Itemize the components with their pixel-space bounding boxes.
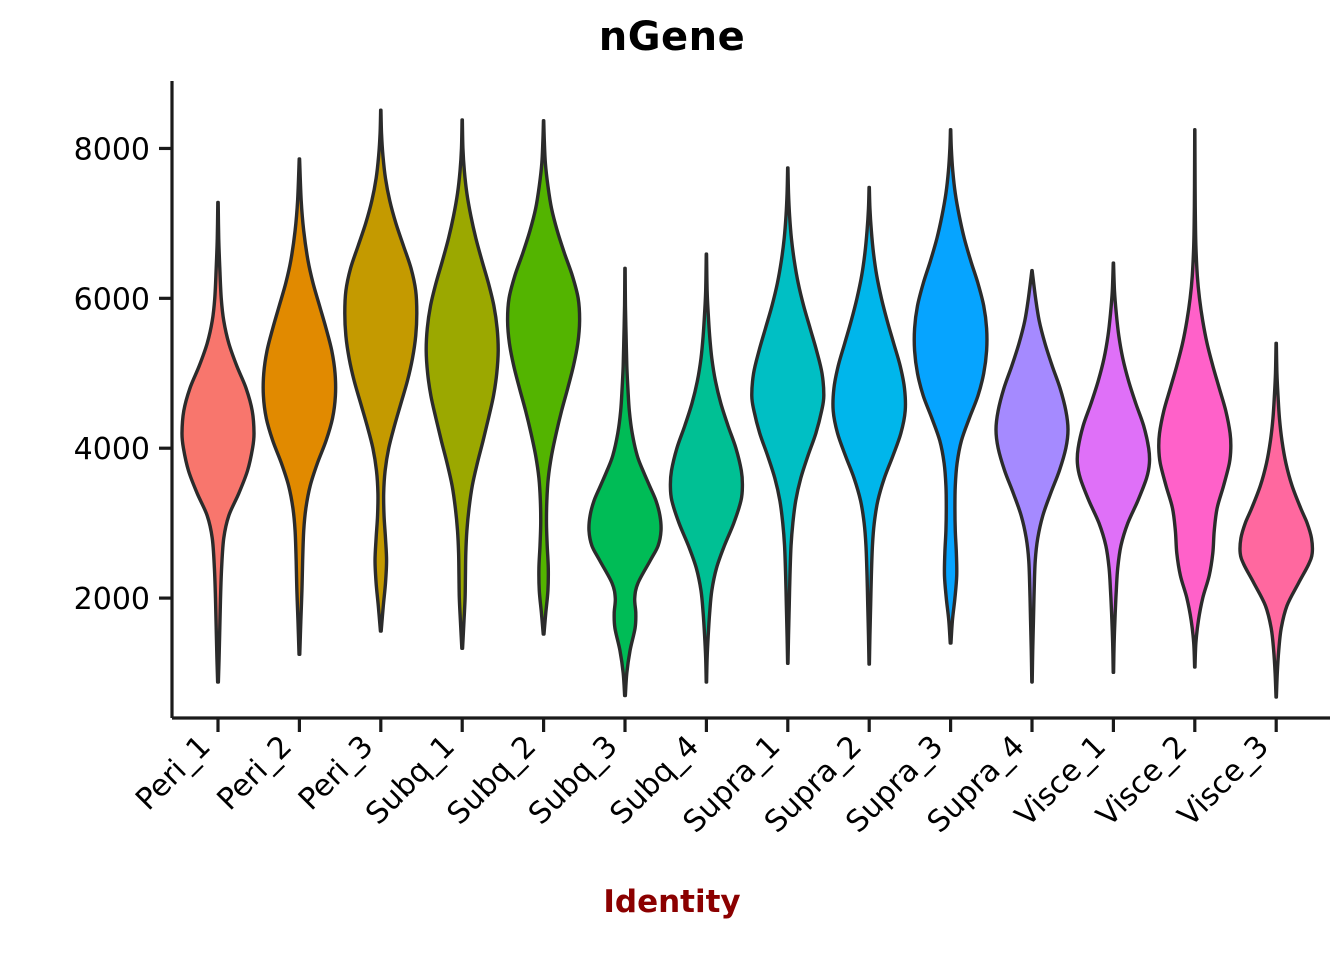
y-tick-label: 6000	[74, 282, 150, 317]
violin-subq_4	[670, 254, 742, 682]
x-tick-label-subq_3: Subq_3	[522, 729, 625, 832]
violin-supra_1	[752, 168, 824, 663]
violin-chart-svg: 2000400060008000 Peri_1Peri_2Peri_3Subq_…	[0, 0, 1344, 960]
x-tick-label-peri_2: Peri_2	[211, 729, 300, 818]
x-tick-label-peri_1: Peri_1	[129, 729, 218, 818]
violin-visce_3	[1240, 343, 1312, 697]
violin-plot-figure: nGene 2000400060008000 Peri_1Peri_2Peri_…	[0, 0, 1344, 960]
y-tick-label: 4000	[74, 432, 150, 467]
violin-visce_1	[1077, 263, 1149, 672]
violin-subq_1	[426, 120, 498, 648]
y-tick-labels-group: 2000400060008000	[74, 132, 150, 617]
x-tick-label-visce_3: Visce_3	[1171, 729, 1276, 834]
violin-supra_4	[996, 271, 1068, 682]
violin-peri_2	[263, 159, 335, 654]
violin-peri_3	[345, 110, 417, 631]
x-axis-title: Identity	[0, 884, 1344, 920]
x-tick-label-subq_1: Subq_1	[359, 729, 462, 832]
violin-subq_3	[589, 268, 661, 695]
violin-supra_2	[833, 187, 906, 664]
x-tick-label-visce_1: Visce_1	[1008, 729, 1113, 834]
x-tick-label-visce_2: Visce_2	[1090, 729, 1195, 834]
y-tick-label: 2000	[74, 582, 150, 617]
violin-supra_3	[914, 130, 987, 643]
y-tick-label: 8000	[74, 132, 150, 167]
violin-visce_2	[1159, 130, 1231, 667]
x-tick-label-subq_2: Subq_2	[441, 729, 544, 832]
x-tick-labels-group: Peri_1Peri_2Peri_3Subq_1Subq_2Subq_3Subq…	[129, 729, 1276, 840]
violin-subq_2	[508, 121, 580, 634]
violins-group	[182, 110, 1312, 697]
violin-peri_1	[182, 202, 254, 682]
